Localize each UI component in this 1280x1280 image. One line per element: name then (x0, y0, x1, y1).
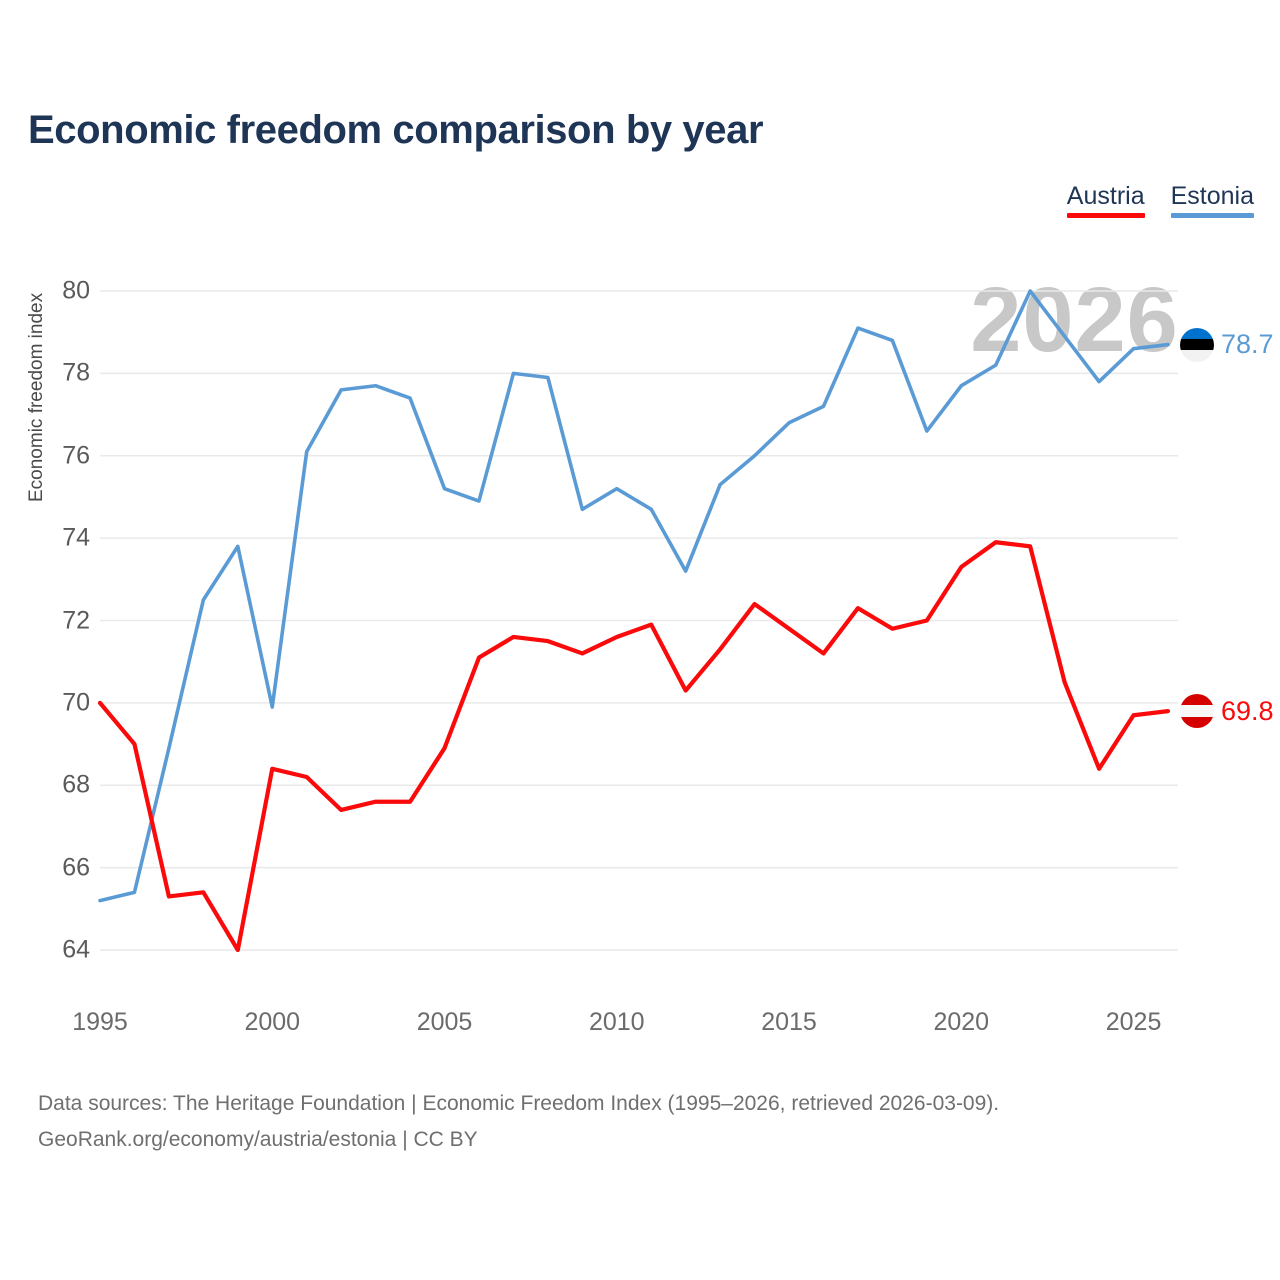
endpoint-value-estonia: 78.7 (1221, 329, 1274, 360)
footer-attribution: Data sources: The Heritage Foundation | … (38, 1086, 999, 1158)
endpoint-label-austria: 69.8 (1180, 694, 1274, 728)
series-line-estonia (100, 291, 1168, 901)
footer-line-2: GeoRank.org/economy/austria/estonia | CC… (38, 1122, 999, 1158)
endpoint-label-estonia: 78.7 (1180, 328, 1274, 362)
chart-page: Economic freedom comparison by year Aust… (0, 0, 1280, 1280)
footer-line-1: Data sources: The Heritage Foundation | … (38, 1086, 999, 1122)
endpoint-value-austria: 69.8 (1221, 696, 1274, 727)
series-line-austria (100, 542, 1168, 950)
austria-flag-icon (1180, 694, 1214, 728)
estonia-flag-icon (1180, 328, 1214, 362)
